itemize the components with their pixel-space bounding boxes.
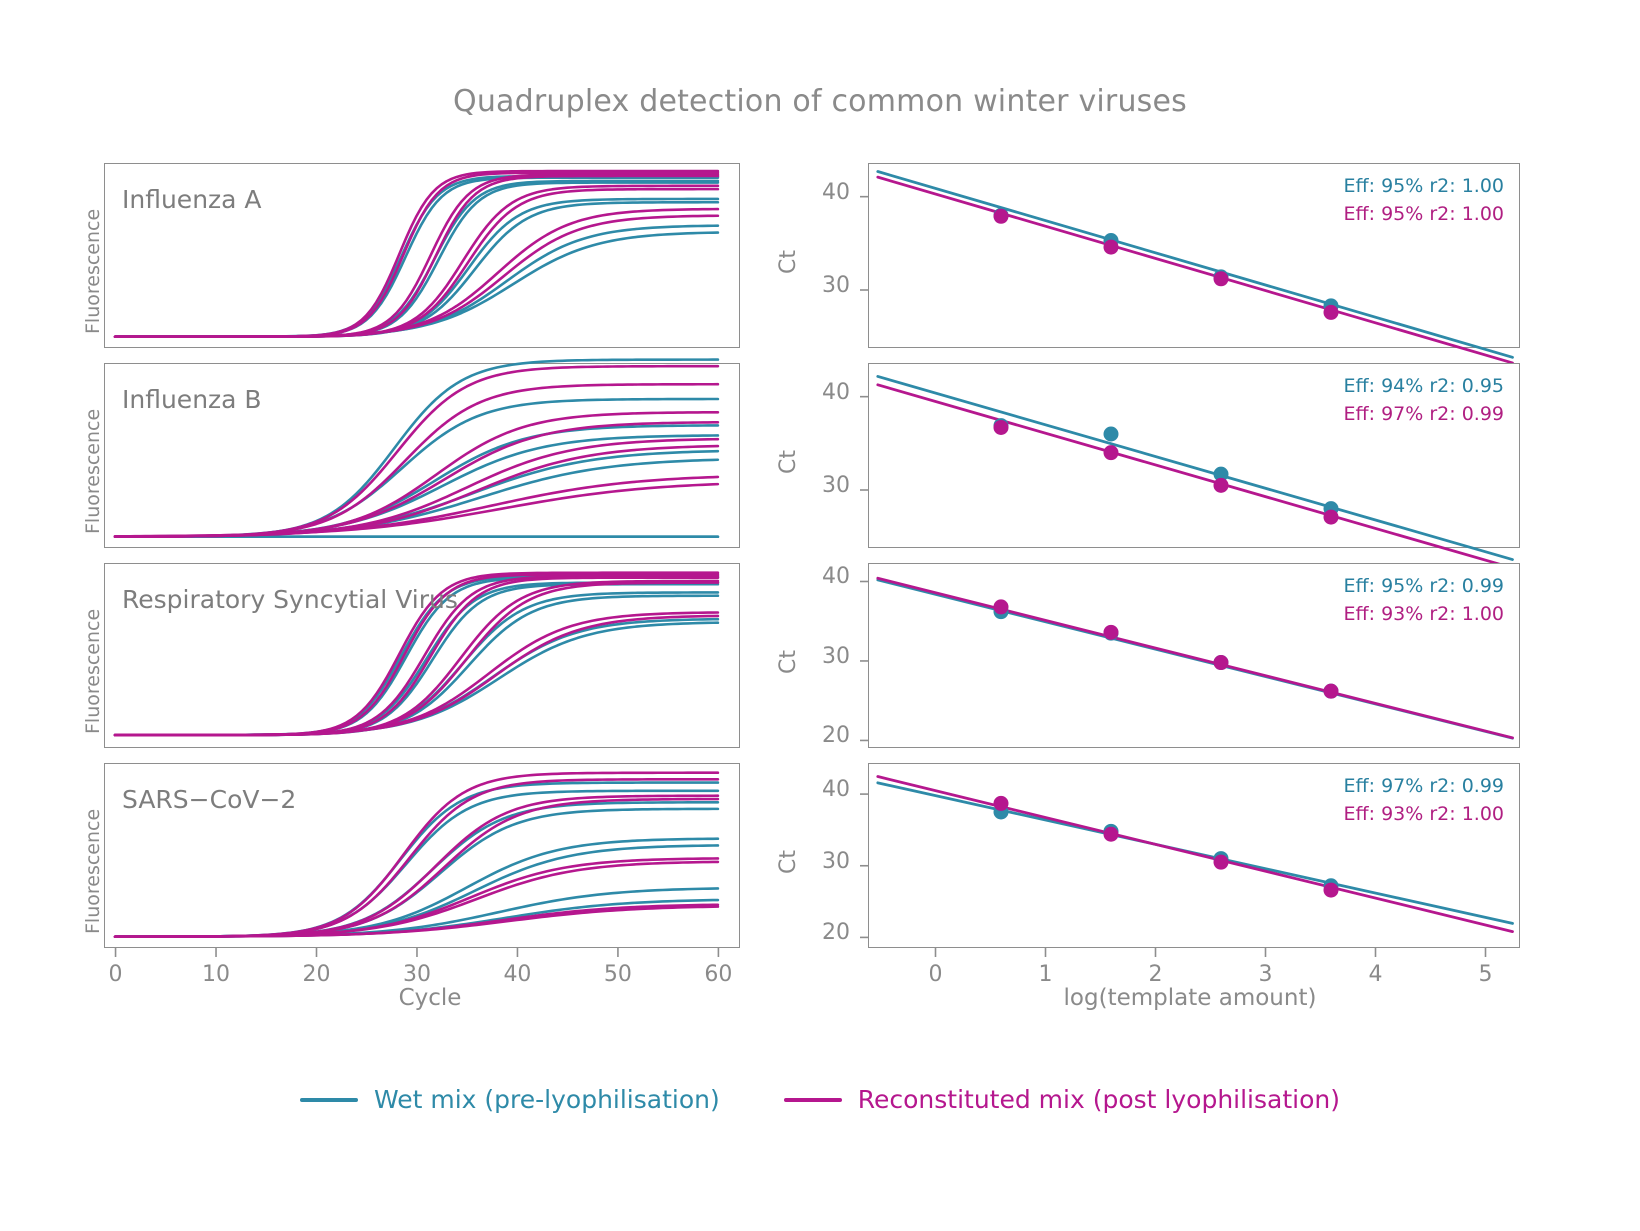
data-point xyxy=(1214,855,1229,870)
annotation-recon-3: Eff: 93% r2: 1.00 xyxy=(1294,603,1504,625)
data-point xyxy=(994,796,1009,811)
data-point xyxy=(1214,655,1229,670)
panel-label-3: Respiratory Syncytial Virus xyxy=(122,585,458,614)
y-axis-label-ct-2: Ct xyxy=(776,450,801,474)
data-point xyxy=(994,420,1009,435)
y-axis-label-fluorescence-3: Fluorescence xyxy=(82,609,104,734)
annotation-recon-1: Eff: 95% r2: 1.00 xyxy=(1294,203,1504,225)
amplification-curve xyxy=(115,862,718,937)
y-axis-label-ct-4: Ct xyxy=(776,850,801,874)
data-point xyxy=(994,599,1009,614)
panel-label-1: Influenza A xyxy=(122,185,262,214)
left-axis-title: Cycle xyxy=(100,985,760,1011)
data-point xyxy=(1104,445,1119,460)
annotation-wet-2: Eff: 94% r2: 0.95 xyxy=(1294,375,1504,397)
data-point xyxy=(994,209,1009,224)
figure-root: Quadruplex detection of common winter vi… xyxy=(0,0,1640,1231)
amplification-curve xyxy=(115,412,718,536)
figure-title: Quadruplex detection of common winter vi… xyxy=(0,84,1640,119)
y-tick-label: 40 xyxy=(790,380,850,405)
y-tick-label: 30 xyxy=(790,473,850,498)
y-tick-label: 20 xyxy=(790,723,850,748)
data-point xyxy=(1324,883,1339,898)
data-point xyxy=(1214,478,1229,493)
legend-label-reconstituted: Reconstituted mix (post lyophilisation) xyxy=(858,1085,1340,1114)
legend-item-wet[interactable]: Wet mix (pre-lyophilisation) xyxy=(300,1085,720,1114)
data-point xyxy=(1104,427,1119,442)
annotation-recon-2: Eff: 97% r2: 0.99 xyxy=(1294,403,1504,425)
data-point xyxy=(1104,625,1119,640)
annotation-wet-1: Eff: 95% r2: 1.00 xyxy=(1294,175,1504,197)
amplification-curve xyxy=(115,858,718,936)
data-point xyxy=(1324,684,1339,699)
right-x-axis xyxy=(868,948,1520,968)
data-point xyxy=(1104,827,1119,842)
legend-item-reconstituted[interactable]: Reconstituted mix (post lyophilisation) xyxy=(784,1085,1340,1114)
regression-line xyxy=(878,777,1513,932)
data-point xyxy=(1214,271,1229,286)
regression-line xyxy=(878,172,1513,358)
data-point xyxy=(1324,305,1339,320)
legend: Wet mix (pre-lyophilisation) Reconstitut… xyxy=(0,1085,1640,1114)
line-swatch-icon xyxy=(300,1098,358,1102)
y-tick-label: 20 xyxy=(790,920,850,945)
y-axis-label-ct-3: Ct xyxy=(776,650,801,674)
data-point xyxy=(1324,510,1339,525)
y-axis-label-ct-1: Ct xyxy=(776,250,801,274)
annotation-wet-3: Eff: 95% r2: 0.99 xyxy=(1294,575,1504,597)
annotation-wet-4: Eff: 97% r2: 0.99 xyxy=(1294,775,1504,797)
y-axis-label-fluorescence-1: Fluorescence xyxy=(82,209,104,334)
left-x-axis xyxy=(104,948,740,968)
panel-label-2: Influenza B xyxy=(122,385,262,414)
annotation-recon-4: Eff: 93% r2: 1.00 xyxy=(1294,803,1504,825)
y-tick-label: 30 xyxy=(790,273,850,298)
line-swatch-icon xyxy=(784,1098,842,1102)
y-tick-label: 40 xyxy=(790,564,850,589)
y-axis-label-fluorescence-4: Fluorescence xyxy=(82,809,104,934)
right-axis-title: log(template amount) xyxy=(860,985,1520,1011)
data-point xyxy=(1104,240,1119,255)
panel-label-4: SARS−CoV−2 xyxy=(122,785,296,814)
y-tick-label: 40 xyxy=(790,180,850,205)
y-tick-label: 40 xyxy=(790,777,850,802)
y-axis-label-fluorescence-2: Fluorescence xyxy=(82,409,104,534)
amplification-curve xyxy=(115,477,718,536)
legend-label-wet: Wet mix (pre-lyophilisation) xyxy=(374,1085,720,1114)
